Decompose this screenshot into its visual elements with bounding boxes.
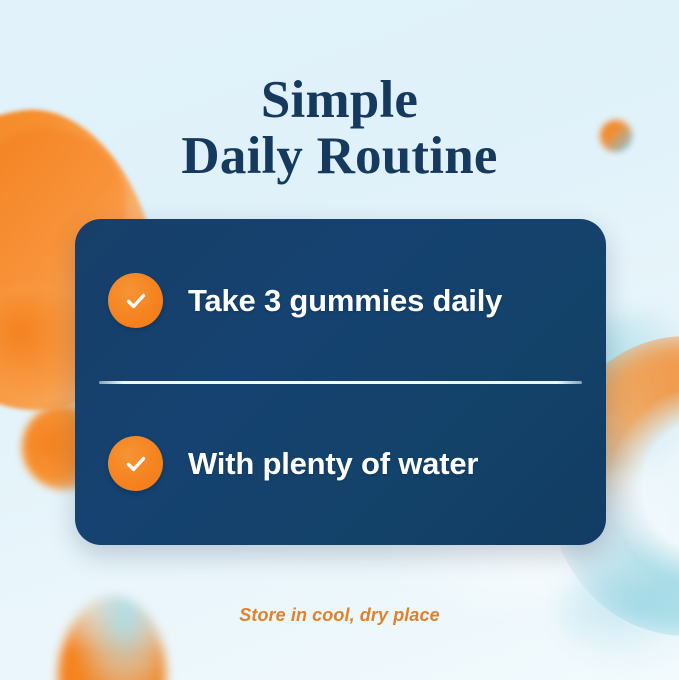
routine-item-2-label: With plenty of water [188, 446, 478, 482]
routine-item-1-label: Take 3 gummies daily [188, 283, 502, 319]
page-title: Simple Daily Routine [0, 72, 679, 184]
storage-note: Store in cool, dry place [0, 605, 679, 626]
routine-item-2: With plenty of water [75, 384, 606, 544]
routine-card: Take 3 gummies daily With plenty of wate… [75, 219, 606, 545]
promo-poster: Simple Daily Routine Take 3 gummies dail… [0, 0, 679, 680]
check-icon [108, 436, 163, 491]
page-title-line-2: Daily Routine [0, 128, 679, 184]
page-title-line-1: Simple [261, 71, 418, 129]
check-icon [108, 273, 163, 328]
routine-item-1: Take 3 gummies daily [75, 221, 606, 381]
